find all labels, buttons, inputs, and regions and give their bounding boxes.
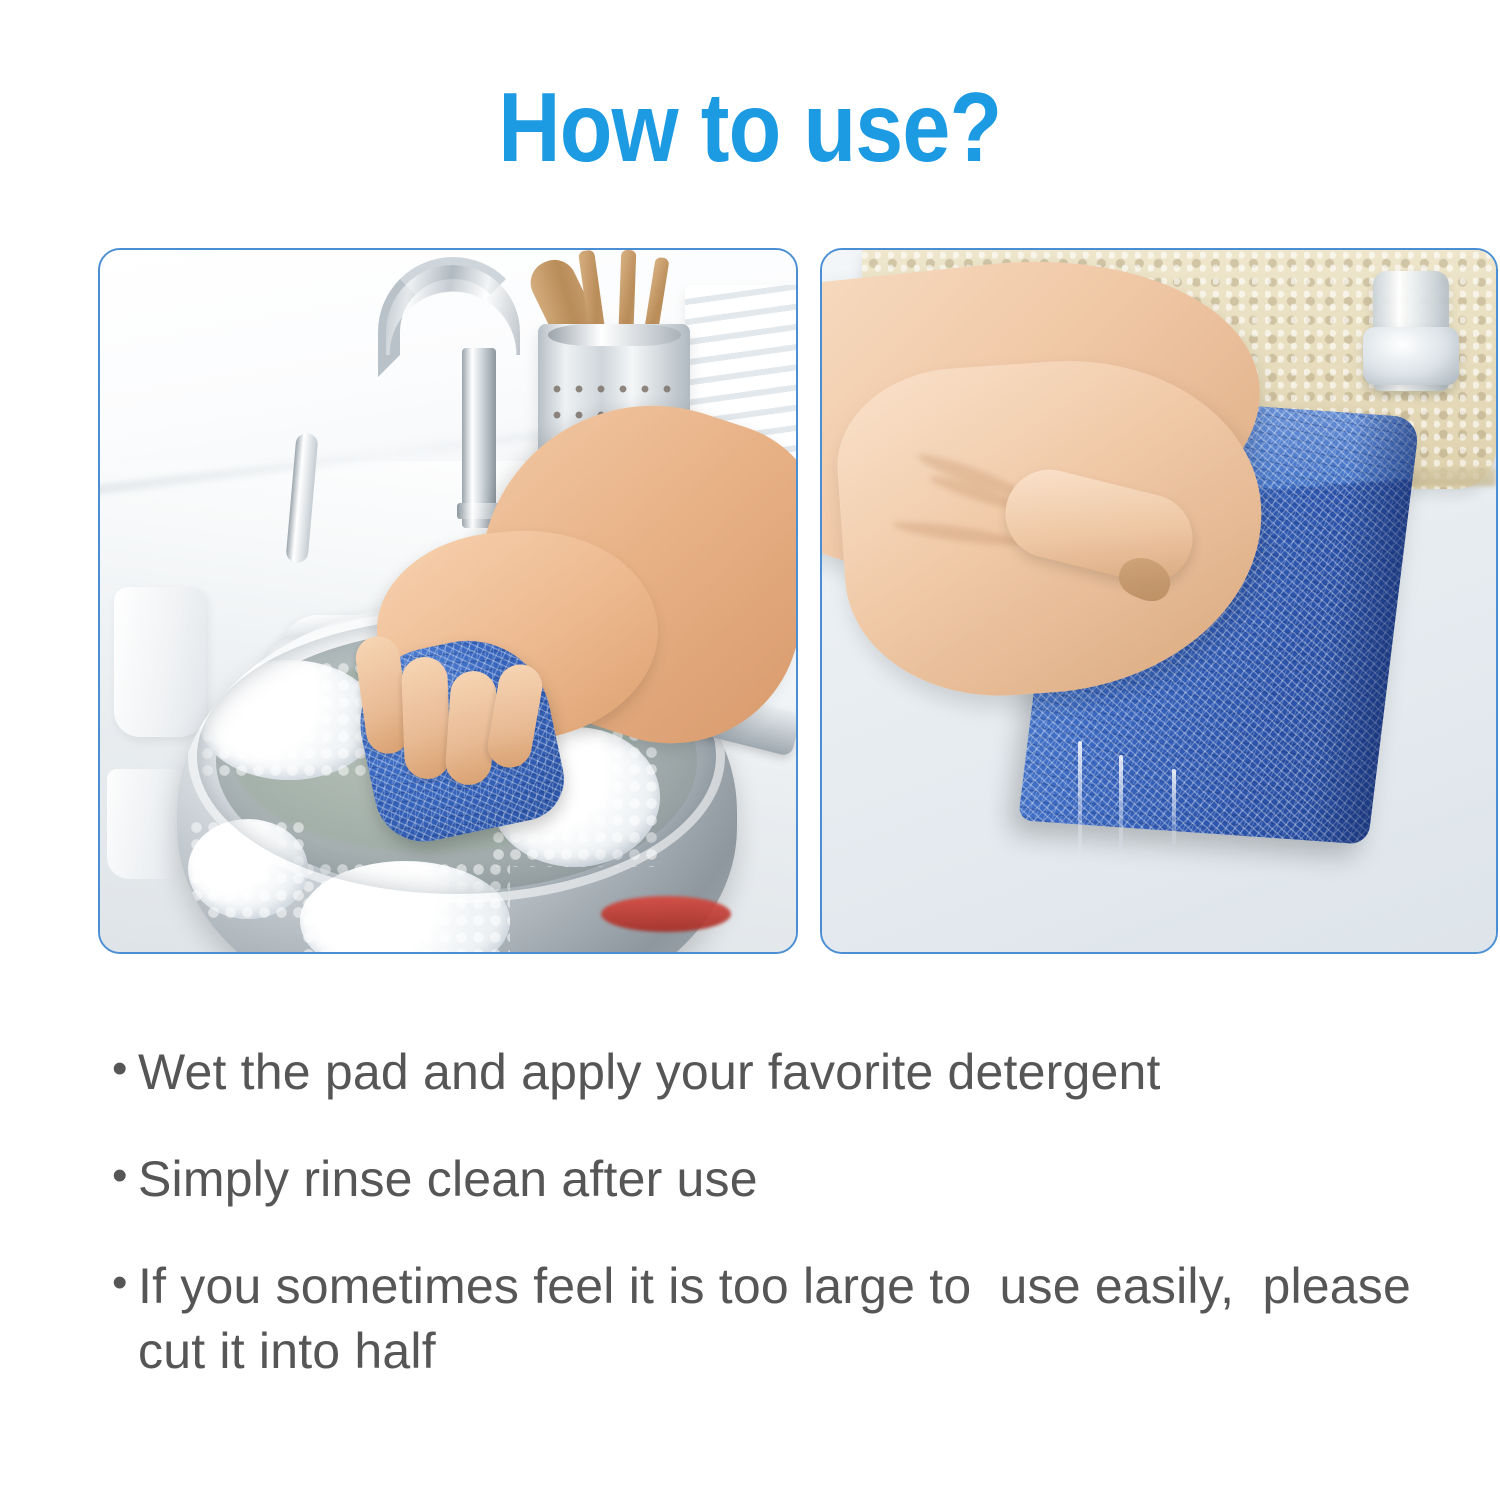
faucet-head [1363,327,1459,385]
utensil-holder-rim [548,324,682,346]
photo-panel-row [98,248,1498,954]
list-item: • Simply rinse clean after use [112,1147,1462,1212]
instruction-list: • Wet the pad and apply your favorite de… [112,1040,1462,1384]
red-accent-object [601,896,731,932]
infographic-page: How to use? [0,0,1500,1500]
photo-panel-washing-pot [98,248,798,954]
page-title-container: How to use? [0,78,1500,176]
water-drip [1119,755,1123,851]
instruction-text: Simply rinse clean after use [138,1147,1462,1212]
list-item: • If you sometimes feel it is too large … [112,1254,1462,1384]
finger [401,656,451,780]
list-item: • Wet the pad and apply your favorite de… [112,1040,1462,1105]
instruction-text: If you sometimes feel it is too large to… [138,1254,1462,1384]
photo-holding-pad [822,250,1496,952]
knuckle-crease [893,518,1024,550]
white-cup [114,587,206,737]
photo-washing-pot [100,250,796,952]
bullet-icon: • [112,1040,138,1097]
water-drip [1172,769,1176,845]
water-drip [1078,741,1082,861]
page-title: How to use? [499,78,1002,176]
photo-panel-holding-pad [820,248,1498,954]
instruction-text: Wet the pad and apply your favorite dete… [138,1040,1462,1105]
bullet-icon: • [112,1147,138,1204]
bullet-icon: • [112,1254,138,1311]
faucet-neck [462,348,496,528]
